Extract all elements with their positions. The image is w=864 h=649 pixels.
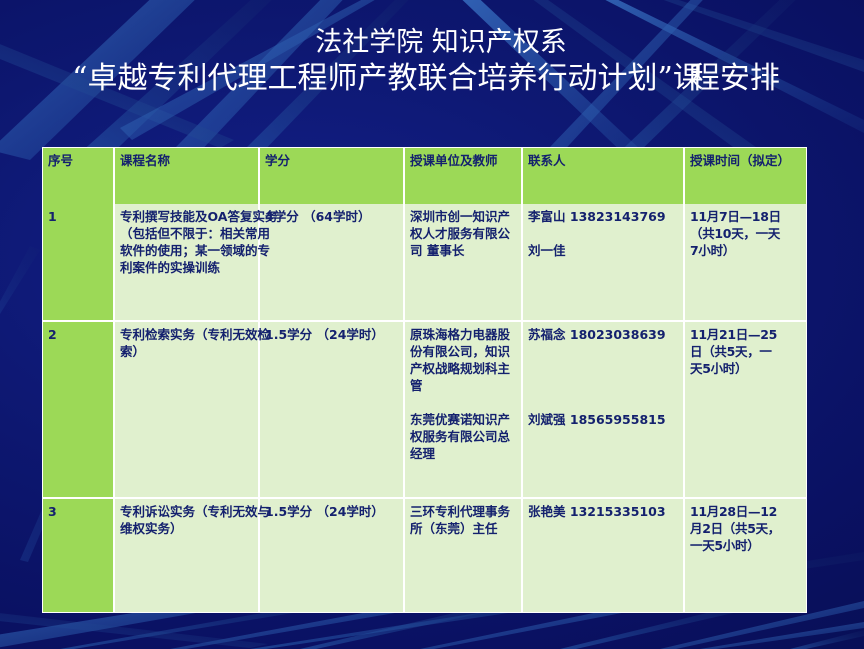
credits-line-2: （24学时） <box>317 326 384 343</box>
cell-course: 专利诉讼实务（专利无效与 维权实务） <box>115 499 260 612</box>
time-line-3: 一天5小时） <box>690 537 759 554</box>
time-line-2: （共10天，一天 <box>690 225 780 242</box>
course-line-4: 利案件的实操训练 <box>120 259 220 276</box>
contact-phone: 13823143769 <box>570 208 666 225</box>
spacer <box>528 343 680 360</box>
header-cell-course: 课程名称 <box>115 148 260 204</box>
credits-line-2: （24学时） <box>317 503 384 520</box>
contact-name-secondary: 刘一佳 <box>528 242 566 259</box>
cell-contact: 李富山 13823143769 刘一佳 <box>523 204 685 322</box>
contact-phone-secondary: 18565955815 <box>570 411 666 428</box>
contact-name: 李富山 <box>528 208 566 225</box>
credits-line-1: 4学分 <box>265 208 299 225</box>
spacer <box>410 394 518 411</box>
contact-phone: 13215335103 <box>570 503 666 520</box>
table-header-row: 序号 课程名称 学分 授课单位及教师 联系人 授课时间（拟定） <box>43 148 806 204</box>
course-line-2: 维权实务） <box>120 520 183 537</box>
unit-primary: 原珠海格力电器股份有限公司，知识产权战略规划科主管 <box>410 327 510 393</box>
header-label: 授课单位及教师 <box>410 152 518 169</box>
cell-credits: 1.5学分 （24学时） <box>260 499 405 612</box>
header-label: 授课时间（拟定） <box>690 152 803 169</box>
unit-secondary: 东莞优赛诺知识产权服务有限公司总经理 <box>410 412 510 461</box>
time-line-1: 11月28日—12 <box>690 503 777 520</box>
time-line-1: 11月21日—25 <box>690 326 777 343</box>
contact-name: 苏福念 <box>528 326 566 343</box>
credits-line-2: （64学时） <box>303 208 370 225</box>
cell-credits: 4学分 （64学时） <box>260 204 405 322</box>
header-label: 课程名称 <box>120 152 255 169</box>
table-row: 2 专利检索实务（专利无效检 索） 1.5学分 （24学时） 原珠海格力电器股份… <box>43 322 806 499</box>
contact-phone: 18023038639 <box>570 326 666 343</box>
cell-time: 11月21日—25 日（共5天，一 天5小时） <box>685 322 806 499</box>
header-label: 序号 <box>48 152 110 169</box>
time-line-2: 日（共5天，一 <box>690 343 772 360</box>
spacer <box>528 225 680 242</box>
credits-line-1: 1.5学分 <box>265 326 312 343</box>
table-row: 3 专利诉讼实务（专利无效与 维权实务） 1.5学分 （24学时） 三环专利代理… <box>43 499 806 612</box>
spacer <box>528 360 680 377</box>
header-cell-credits: 学分 <box>260 148 405 204</box>
spacer <box>528 377 680 394</box>
unit-primary: 三环专利代理事务所（东莞）主任 <box>410 504 510 536</box>
cell-index: 1 <box>43 204 115 322</box>
cell-course: 专利检索实务（专利无效检 索） <box>115 322 260 499</box>
header-cell-unit: 授课单位及教师 <box>405 148 523 204</box>
cell-time: 11月28日—12 月2日（共5天， 一天5小时） <box>685 499 806 612</box>
course-line-2: 索） <box>120 343 145 360</box>
course-line-3: 软件的使用；某一领域的专 <box>120 242 270 259</box>
cell-course: 专利撰写技能及OA答复实务 （包括但不限于：相关常用 软件的使用；某一领域的专 … <box>115 204 260 322</box>
cell-time: 11月7日—18日 （共10天，一天 7小时） <box>685 204 806 322</box>
time-line-1: 11月7日—18日 <box>690 208 781 225</box>
cell-unit: 三环专利代理事务所（东莞）主任 <box>405 499 523 612</box>
cell-index: 3 <box>43 499 115 612</box>
unit-primary: 深圳市创一知识产权人才服务有限公司 董事长 <box>410 209 510 258</box>
course-schedule-table: 序号 课程名称 学分 授课单位及教师 联系人 授课时间（拟定） 1 专利撰写技能 <box>43 148 806 612</box>
time-line-3: 天5小时） <box>690 360 747 377</box>
header-label: 联系人 <box>528 152 680 169</box>
cell-credits: 1.5学分 （24学时） <box>260 322 405 499</box>
cell-unit: 原珠海格力电器股份有限公司，知识产权战略规划科主管 东莞优赛诺知识产权服务有限公… <box>405 322 523 499</box>
course-line-1: 专利撰写技能及OA答复实务 <box>120 208 277 225</box>
cell-contact: 张艳美 13215335103 <box>523 499 685 612</box>
course-line-1: 专利检索实务（专利无效检 <box>120 326 270 343</box>
credits-line-1: 1.5学分 <box>265 503 312 520</box>
header-cell-index: 序号 <box>43 148 115 204</box>
contact-name-secondary: 刘斌强 <box>528 411 566 428</box>
spacer <box>528 394 680 411</box>
header-cell-contact: 联系人 <box>523 148 685 204</box>
time-line-2: 月2日（共5天， <box>690 520 780 537</box>
header-label: 学分 <box>265 152 400 169</box>
contact-name: 张艳美 <box>528 503 566 520</box>
cell-contact: 苏福念 18023038639 刘斌强 18565955815 <box>523 322 685 499</box>
cell-unit: 深圳市创一知识产权人才服务有限公司 董事长 <box>405 204 523 322</box>
cell-index: 2 <box>43 322 115 499</box>
course-line-1: 专利诉讼实务（专利无效与 <box>120 503 270 520</box>
time-line-3: 7小时） <box>690 242 735 259</box>
header-cell-time: 授课时间（拟定） <box>685 148 806 204</box>
course-line-2: （包括但不限于：相关常用 <box>120 225 270 242</box>
table-row: 1 专利撰写技能及OA答复实务 （包括但不限于：相关常用 软件的使用；某一领域的… <box>43 204 806 322</box>
